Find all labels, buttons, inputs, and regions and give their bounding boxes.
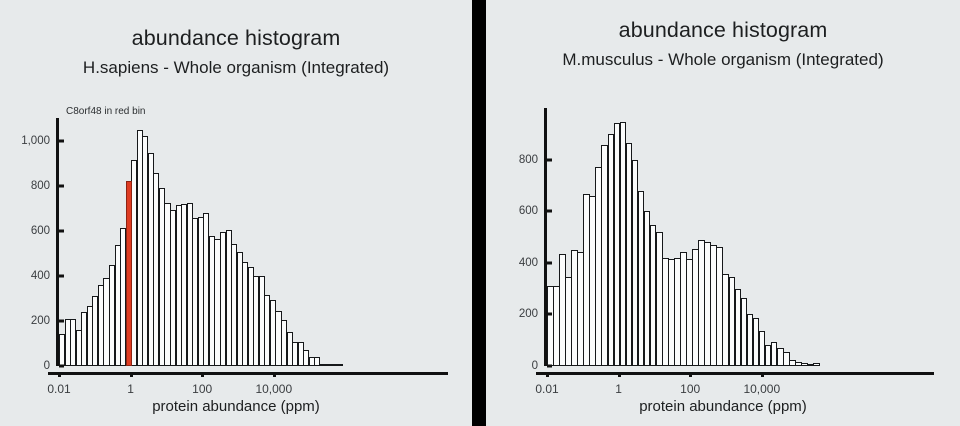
y-axis-tick (547, 313, 552, 316)
plot-area: 02004006008000.01110010,000 (544, 108, 940, 366)
histogram-panel-h-sapiens: abundance histogram H.sapiens - Whole or… (0, 0, 472, 426)
y-axis-tick (59, 139, 64, 142)
x-axis-tick (201, 372, 204, 377)
histogram-bar (813, 363, 820, 366)
y-axis-tick-label: 800 (31, 180, 50, 192)
histogram-panel-m-musculus: abundance histogram M.musculus - Whole o… (486, 0, 960, 426)
x-axis-tick (273, 372, 276, 377)
page-subtitle: M.musculus - Whole organism (Integrated) (486, 50, 960, 70)
x-axis-tick-label: 0.01 (535, 382, 558, 396)
red-bin-annotation: C8orf48 in red bin (66, 106, 146, 117)
x-axis-tick-label: 100 (680, 382, 700, 396)
x-axis-line (48, 372, 448, 375)
histogram-bar (337, 364, 343, 366)
page-title: abundance histogram (0, 26, 472, 51)
x-axis-tick (689, 372, 692, 377)
page-subtitle: H.sapiens - Whole organism (Integrated) (0, 58, 472, 78)
y-axis-tick-label: 0 (532, 360, 538, 372)
y-axis-tick (59, 365, 64, 368)
y-axis-tick (547, 158, 552, 161)
x-axis-tick-label: 1 (127, 382, 134, 396)
y-axis-tick (59, 184, 64, 187)
screenshot-root: abundance histogram H.sapiens - Whole or… (0, 0, 960, 426)
x-axis-tick-label: 100 (192, 382, 212, 396)
y-axis-tick-label: 0 (44, 360, 50, 372)
y-axis-tick-label: 400 (519, 257, 538, 269)
panel-divider (472, 0, 486, 426)
x-axis-tick (130, 372, 133, 377)
y-axis-tick-label: 600 (31, 225, 50, 237)
x-axis-title: protein abundance (ppm) (0, 398, 472, 415)
x-axis-tick-label: 0.01 (47, 382, 70, 396)
y-axis-tick (547, 261, 552, 264)
y-axis-tick-label: 600 (519, 205, 538, 217)
x-axis-title: protein abundance (ppm) (486, 398, 960, 415)
y-axis-tick-label: 200 (31, 315, 50, 327)
y-axis-tick (59, 229, 64, 232)
x-axis-tick (546, 372, 549, 377)
plot-area: 02004006008001,0000.01110010,000 (56, 118, 452, 366)
y-axis-tick (59, 274, 64, 277)
y-axis-tick (547, 210, 552, 213)
y-axis-tick-label: 200 (519, 308, 538, 320)
x-axis-tick-label: 10,000 (743, 382, 780, 396)
x-axis-tick-label: 10,000 (255, 382, 292, 396)
bar-series (59, 118, 452, 366)
y-axis-tick-label: 400 (31, 270, 50, 282)
x-axis-line (536, 372, 934, 375)
y-axis-tick-label: 800 (519, 154, 538, 166)
x-axis-tick (761, 372, 764, 377)
y-axis-tick-label: 1,000 (21, 135, 50, 147)
bar-series (547, 108, 940, 366)
x-axis-tick (618, 372, 621, 377)
x-axis-tick-label: 1 (615, 382, 622, 396)
page-title: abundance histogram (486, 18, 960, 43)
histogram-bar-highlighted (126, 181, 132, 366)
y-axis-tick (59, 319, 64, 322)
x-axis-tick (58, 372, 61, 377)
y-axis-tick (547, 365, 552, 368)
